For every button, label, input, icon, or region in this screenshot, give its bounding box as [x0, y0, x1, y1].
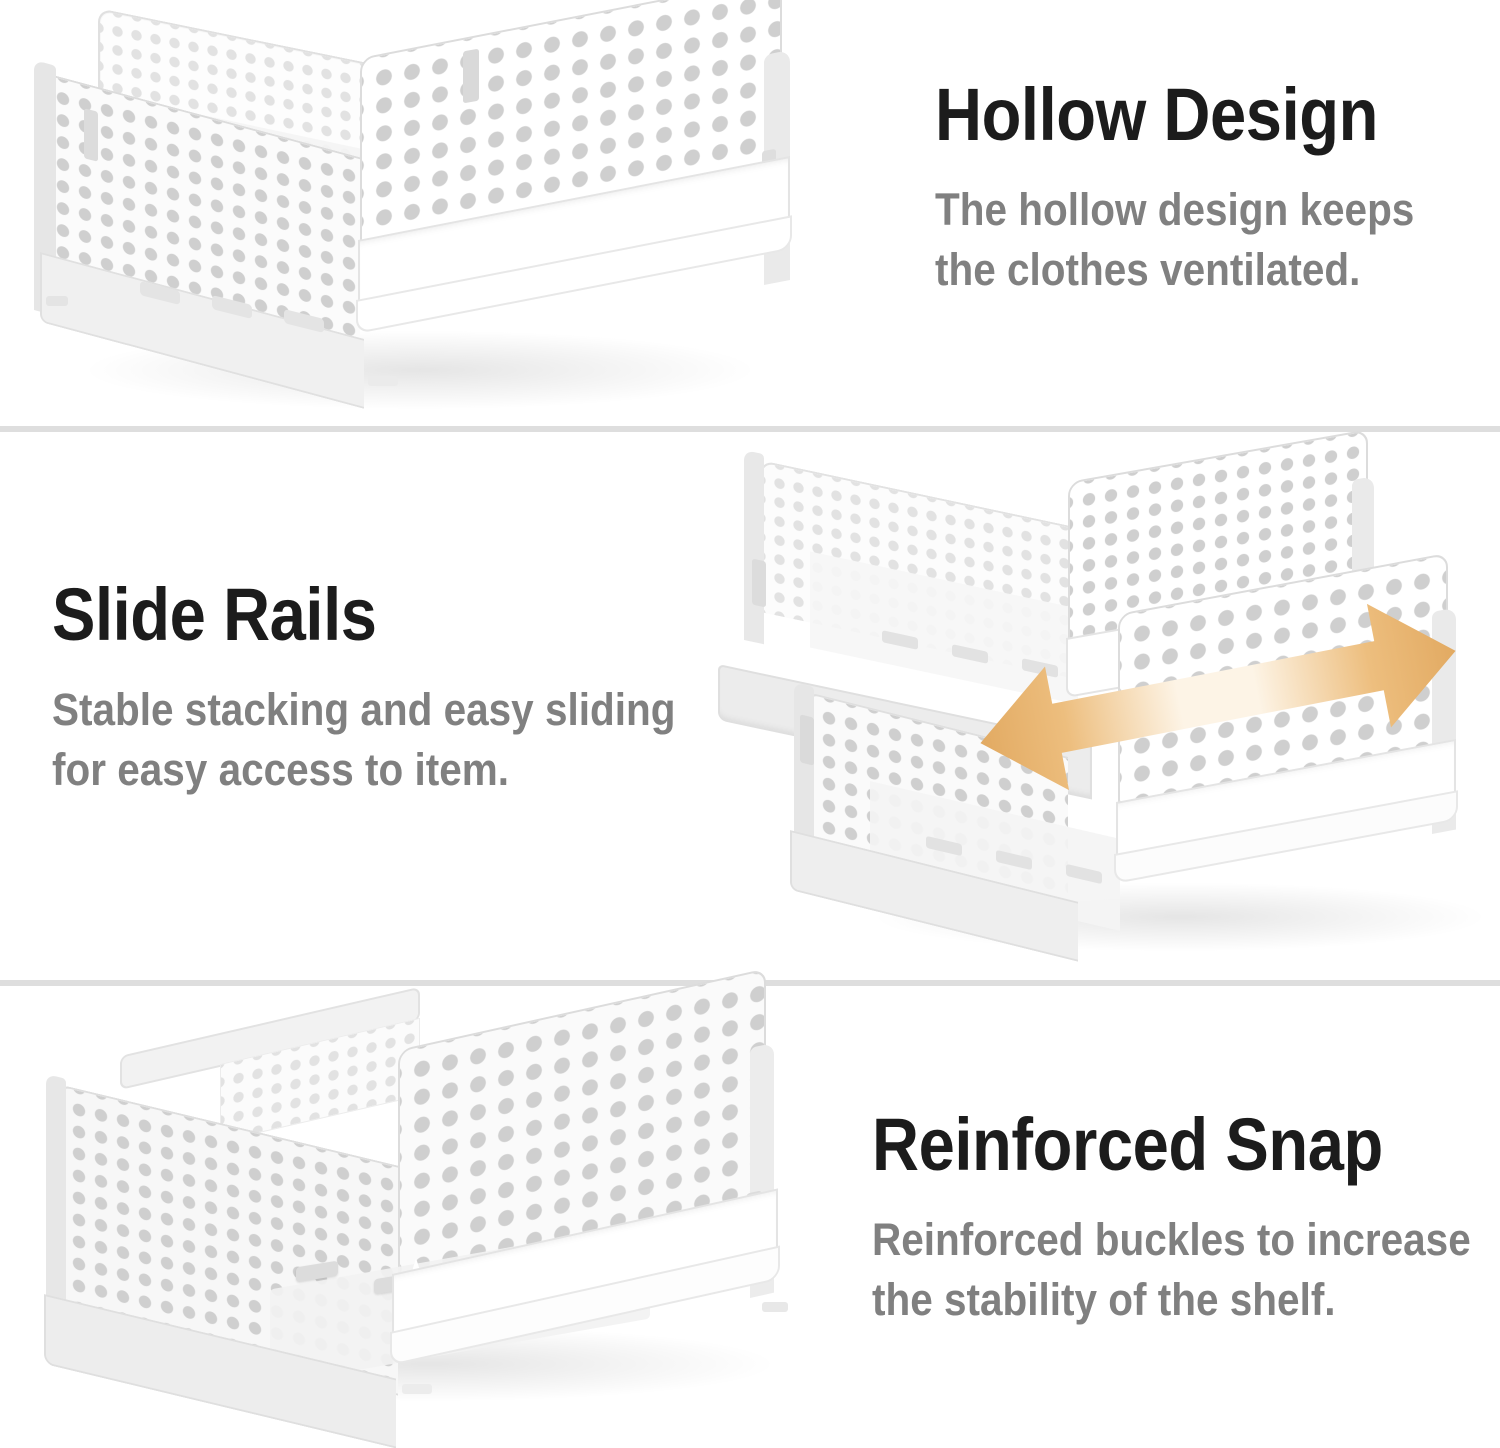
lower-basket-hinge-clip [800, 714, 814, 765]
panel-slide-rails: Slide Rails Stable stacking and easy sli… [0, 432, 1500, 980]
basket-hinge-clip [84, 108, 98, 161]
basket-foot [762, 1302, 788, 1312]
panel-body-line: The hollow design keeps [935, 180, 1414, 240]
basket-corner-post-left [46, 1074, 66, 1329]
panel-body: Reinforced buckles to increase the stabi… [872, 1210, 1471, 1330]
text-block-slide-rails: Slide Rails Stable stacking and easy sli… [52, 578, 745, 800]
basket-foot [402, 1384, 432, 1394]
product-image-hollow-design [20, 0, 840, 420]
panel-body-line: Reinforced buckles to increase [872, 1210, 1471, 1270]
text-block-reinforced-snap: Reinforced Snap Reinforced buckles to in… [872, 1108, 1500, 1330]
panel-hollow-design: Hollow Design The hollow design keeps th… [0, 0, 1500, 426]
product-image-slide-rails [700, 442, 1500, 972]
basket-hinge-clip [463, 49, 479, 104]
product-infographic: Hollow Design The hollow design keeps th… [0, 0, 1500, 1410]
text-block-hollow-design: Hollow Design The hollow design keeps th… [935, 78, 1468, 300]
panel-body-line: Stable stacking and easy sliding [52, 680, 675, 740]
basket-foot [46, 296, 68, 306]
panel-body-line: the clothes ventilated. [935, 240, 1414, 300]
panel-body: The hollow design keeps the clothes vent… [935, 180, 1414, 300]
slide-direction-arrow [958, 592, 1478, 802]
product-image-reinforced-snap [20, 1006, 840, 1406]
panel-body: Stable stacking and easy sliding for eas… [52, 680, 675, 800]
panel-heading: Reinforced Snap [872, 1108, 1457, 1182]
panel-body-line: for easy access to item. [52, 740, 675, 800]
upper-basket-corner-post-left [744, 450, 764, 644]
upper-basket-hinge-clip [752, 559, 766, 608]
basket-foot [368, 376, 398, 386]
panel-body-line: the stability of the shelf. [872, 1270, 1471, 1330]
panel-heading: Slide Rails [52, 578, 662, 652]
panel-reinforced-snap: Reinforced Snap Reinforced buckles to in… [0, 986, 1500, 1410]
panel-heading: Hollow Design [935, 78, 1404, 152]
